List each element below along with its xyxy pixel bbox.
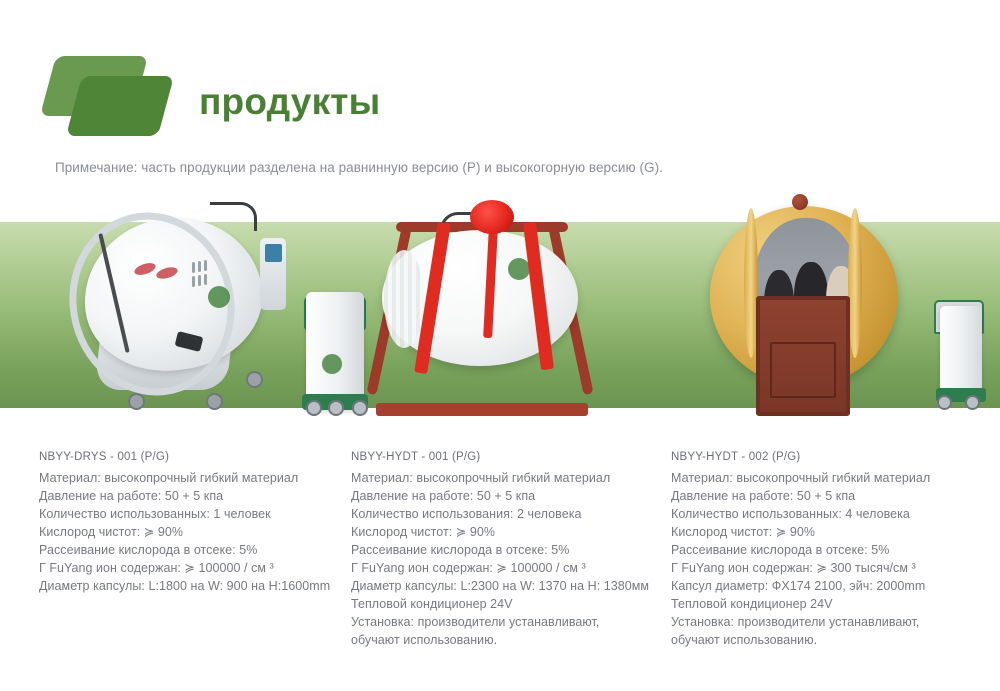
product-spec-line: Количество использования: 2 человека <box>351 505 661 523</box>
product-spec-line: Количество использованных: 4 человека <box>671 505 981 523</box>
product-spec-column: NBYY-HYDT - 002 (P/G)Материал: высокопро… <box>671 448 981 649</box>
product-model-code: NBYY-HYDT - 001 (P/G) <box>351 448 661 466</box>
product-spec-line: Капсул диаметр: ФХ174 2100, эйч: 2000mm <box>671 577 981 595</box>
product-spec-line: Рассеивание кислорода в отсеке: 5% <box>351 541 661 559</box>
product-spec-line: Диаметр капсулы: L:2300 на W: 1370 на H:… <box>351 577 661 595</box>
product-spec-line: Г FuYang ион содержан: ≽ 100000 / см ³ <box>39 559 349 577</box>
product-spec-line: Материал: высокопрочный гибкий материал <box>39 469 349 487</box>
page-title: продукты <box>199 80 380 124</box>
product-spec-line: Кислород чистот: ≽ 90% <box>351 523 661 541</box>
product-spec-line: Давление на работе: 50 + 5 кпа <box>671 487 981 505</box>
product-spec-line: Г FuYang ион содержан: ≽ 300 тысяч/см ³ <box>671 559 981 577</box>
product-spec-line: Г FuYang ион содержан: ≽ 100000 / см ³ <box>351 559 661 577</box>
product-spec-area: NBYY-DRYS - 001 (P/G)Материал: высокопро… <box>0 448 1000 648</box>
product-spec-line: Кислород чистот: ≽ 90% <box>671 523 981 541</box>
page-header: продукты Примечание: часть продукции раз… <box>0 0 1000 200</box>
product-spec-line: Тепловой кондиционер 24V <box>671 595 981 613</box>
product-spec-line: Количество использованных: 1 человек <box>39 505 349 523</box>
product-spec-line: Установка: производители устанавливают, <box>671 613 981 631</box>
logo-sheet-front-icon <box>66 76 174 136</box>
product-spec-line: обучают использованию. <box>351 631 661 649</box>
product-spec-line: Рассеивание кислорода в отсеке: 5% <box>39 541 349 559</box>
product-model-code: NBYY-DRYS - 001 (P/G) <box>39 448 349 466</box>
product-spec-line: Тепловой кондиционер 24V <box>351 595 661 613</box>
brand-logo-icon <box>48 56 180 142</box>
product-spec-line: Давление на работе: 50 + 5 кпа <box>351 487 661 505</box>
green-gradient-band <box>0 222 1000 408</box>
product-spec-line: Давление на работе: 50 + 5 кпа <box>39 487 349 505</box>
product-spec-line: Материал: высокопрочный гибкий материал <box>351 469 661 487</box>
product-spec-line: Диаметр капсулы: L:1800 на W: 900 на H:1… <box>39 577 349 595</box>
product-model-code: NBYY-HYDT - 002 (P/G) <box>671 448 981 466</box>
product-spec-column: NBYY-HYDT - 001 (P/G)Материал: высокопро… <box>351 448 661 649</box>
product-spec-line: обучают использованию. <box>671 631 981 649</box>
version-note: Примечание: часть продукции разделена на… <box>55 160 663 175</box>
product-spec-line: Кислород чистот: ≽ 90% <box>39 523 349 541</box>
product-spec-line: Материал: высокопрочный гибкий материал <box>671 469 981 487</box>
product-spec-column: NBYY-DRYS - 001 (P/G)Материал: высокопро… <box>39 448 349 595</box>
product-spec-line: Рассеивание кислорода в отсеке: 5% <box>671 541 981 559</box>
product-spec-line: Установка: производители устанавливают, <box>351 613 661 631</box>
